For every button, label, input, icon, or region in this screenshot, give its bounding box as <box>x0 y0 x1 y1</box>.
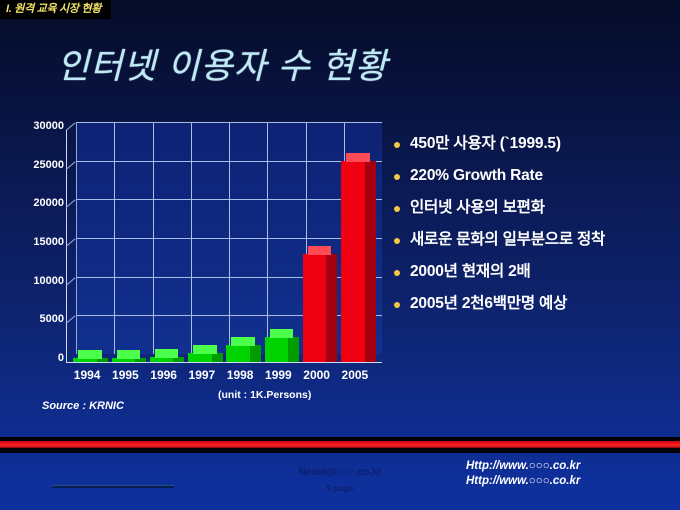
gridline-vertical <box>153 122 154 354</box>
x-axis-tick-label: 2005 <box>342 368 369 382</box>
x-axis-tick-label: 1998 <box>227 368 254 382</box>
footer-url-1[interactable]: Http://www.○○○.co.kr <box>466 459 580 474</box>
bullet-text: 새로운 문화의 일부분으로 정착 <box>410 230 670 250</box>
bar-2000 <box>303 254 327 362</box>
x-axis-tick-label: 1997 <box>189 368 216 382</box>
bar-1995 <box>112 358 136 362</box>
bar-2005 <box>341 161 365 362</box>
list-item: 2005년 2천6백만명 예상 <box>394 294 670 314</box>
bar-1994 <box>73 358 97 362</box>
bar-1996 <box>150 357 174 362</box>
axis-depth-connector <box>66 277 76 285</box>
bullet-text: 220% Growth Rate <box>410 166 670 186</box>
bar-chart: 050001000015000200002500030000 199419951… <box>18 118 386 418</box>
gridline-vertical <box>229 122 230 354</box>
bullet-text: 2000년 현재의 2배 <box>410 262 670 282</box>
page-title: 인터넷 이용자 수 현황 <box>57 38 388 89</box>
slide-canvas: I. 원격 교육 시장 현황 인터넷 이용자 수 현황 050001000015… <box>0 0 680 510</box>
list-item: 2000년 현재의 2배 <box>394 262 670 282</box>
bar-side-face <box>326 254 337 362</box>
bar-top-face <box>78 350 102 359</box>
plot-area <box>66 122 382 364</box>
y-axis-tick-label: 25000 <box>18 159 64 171</box>
bullet-dot-icon <box>394 206 400 212</box>
list-item: 인터넷 사용의 보편화 <box>394 198 670 218</box>
bullet-list: 450만 사용자 (`1999.5)220% Growth Rate인터넷 사용… <box>394 134 670 326</box>
axis-depth-connector <box>66 238 76 246</box>
bar-front-face <box>265 337 289 362</box>
bar-front-face <box>341 161 365 362</box>
x-axis-tick-label: 2000 <box>303 368 330 382</box>
axis-depth-connector <box>66 316 76 324</box>
bar-side-face <box>212 353 223 362</box>
x-axis-tick-label: 1995 <box>112 368 139 382</box>
y-axis-tick-label: 30000 <box>18 120 64 132</box>
chart-source-note: Source : KRNIC <box>42 400 124 412</box>
axis-depth-connector <box>66 122 76 130</box>
bullet-text: 2005년 2천6백만명 예상 <box>410 294 670 314</box>
bar-top-face <box>231 337 255 346</box>
gridline-vertical <box>191 122 192 354</box>
list-item: 450만 사용자 (`1999.5) <box>394 134 670 154</box>
bar-top-face <box>308 246 332 255</box>
footer-urls: Http://www.○○○.co.kr Http://www.○○○.co.k… <box>466 459 580 489</box>
bar-top-face <box>346 153 370 162</box>
axis-depth-connector <box>66 200 76 208</box>
bar-1998 <box>226 345 250 362</box>
bullet-dot-icon <box>394 270 400 276</box>
x-axis-tick-label: 1996 <box>150 368 177 382</box>
bullet-dot-icon <box>394 302 400 308</box>
footer-stripe <box>0 441 680 448</box>
y-axis-tick-label: 10000 <box>18 275 64 287</box>
y-axis-tick-label: 15000 <box>18 236 64 248</box>
bar-front-face <box>303 254 327 362</box>
list-item: 220% Growth Rate <box>394 166 670 186</box>
bar-front-face <box>226 345 250 362</box>
chart-unit-note: (unit : 1K.Persons) <box>218 389 311 401</box>
bar-top-face <box>193 345 217 354</box>
bar-top-face <box>270 329 294 338</box>
bullet-dot-icon <box>394 142 400 148</box>
bar-front-face <box>188 353 212 362</box>
bullet-text: 450만 사용자 (`1999.5) <box>410 134 670 154</box>
y-axis-tick-label: 5000 <box>18 313 64 325</box>
section-tab: I. 원격 교육 시장 현황 <box>0 0 111 19</box>
bar-top-face <box>155 349 179 358</box>
list-item: 새로운 문화의 일부분으로 정착 <box>394 230 670 250</box>
gridline-vertical <box>267 122 268 354</box>
bullet-dot-icon <box>394 174 400 180</box>
x-axis: 19941995199619971998199920002005 <box>66 368 382 386</box>
y-axis-tick-label: 20000 <box>18 197 64 209</box>
y-axis-tick-label: 0 <box>18 352 64 364</box>
bar-1997 <box>188 353 212 362</box>
bar-side-face <box>365 161 376 362</box>
footer-url-2[interactable]: Http://www.○○○.co.kr <box>466 474 580 489</box>
bullet-dot-icon <box>394 238 400 244</box>
bar-1999 <box>265 337 289 362</box>
bullet-text: 인터넷 사용의 보편화 <box>410 198 670 218</box>
axis-depth-connector <box>66 161 76 169</box>
x-axis-tick-label: 1994 <box>74 368 101 382</box>
gridline-vertical <box>114 122 115 354</box>
x-axis-line <box>66 362 382 363</box>
bar-side-face <box>288 337 299 362</box>
bar-top-face <box>117 350 141 359</box>
y-axis: 050001000015000200002500030000 <box>18 118 64 350</box>
bar-side-face <box>250 345 261 362</box>
x-axis-tick-label: 1999 <box>265 368 292 382</box>
